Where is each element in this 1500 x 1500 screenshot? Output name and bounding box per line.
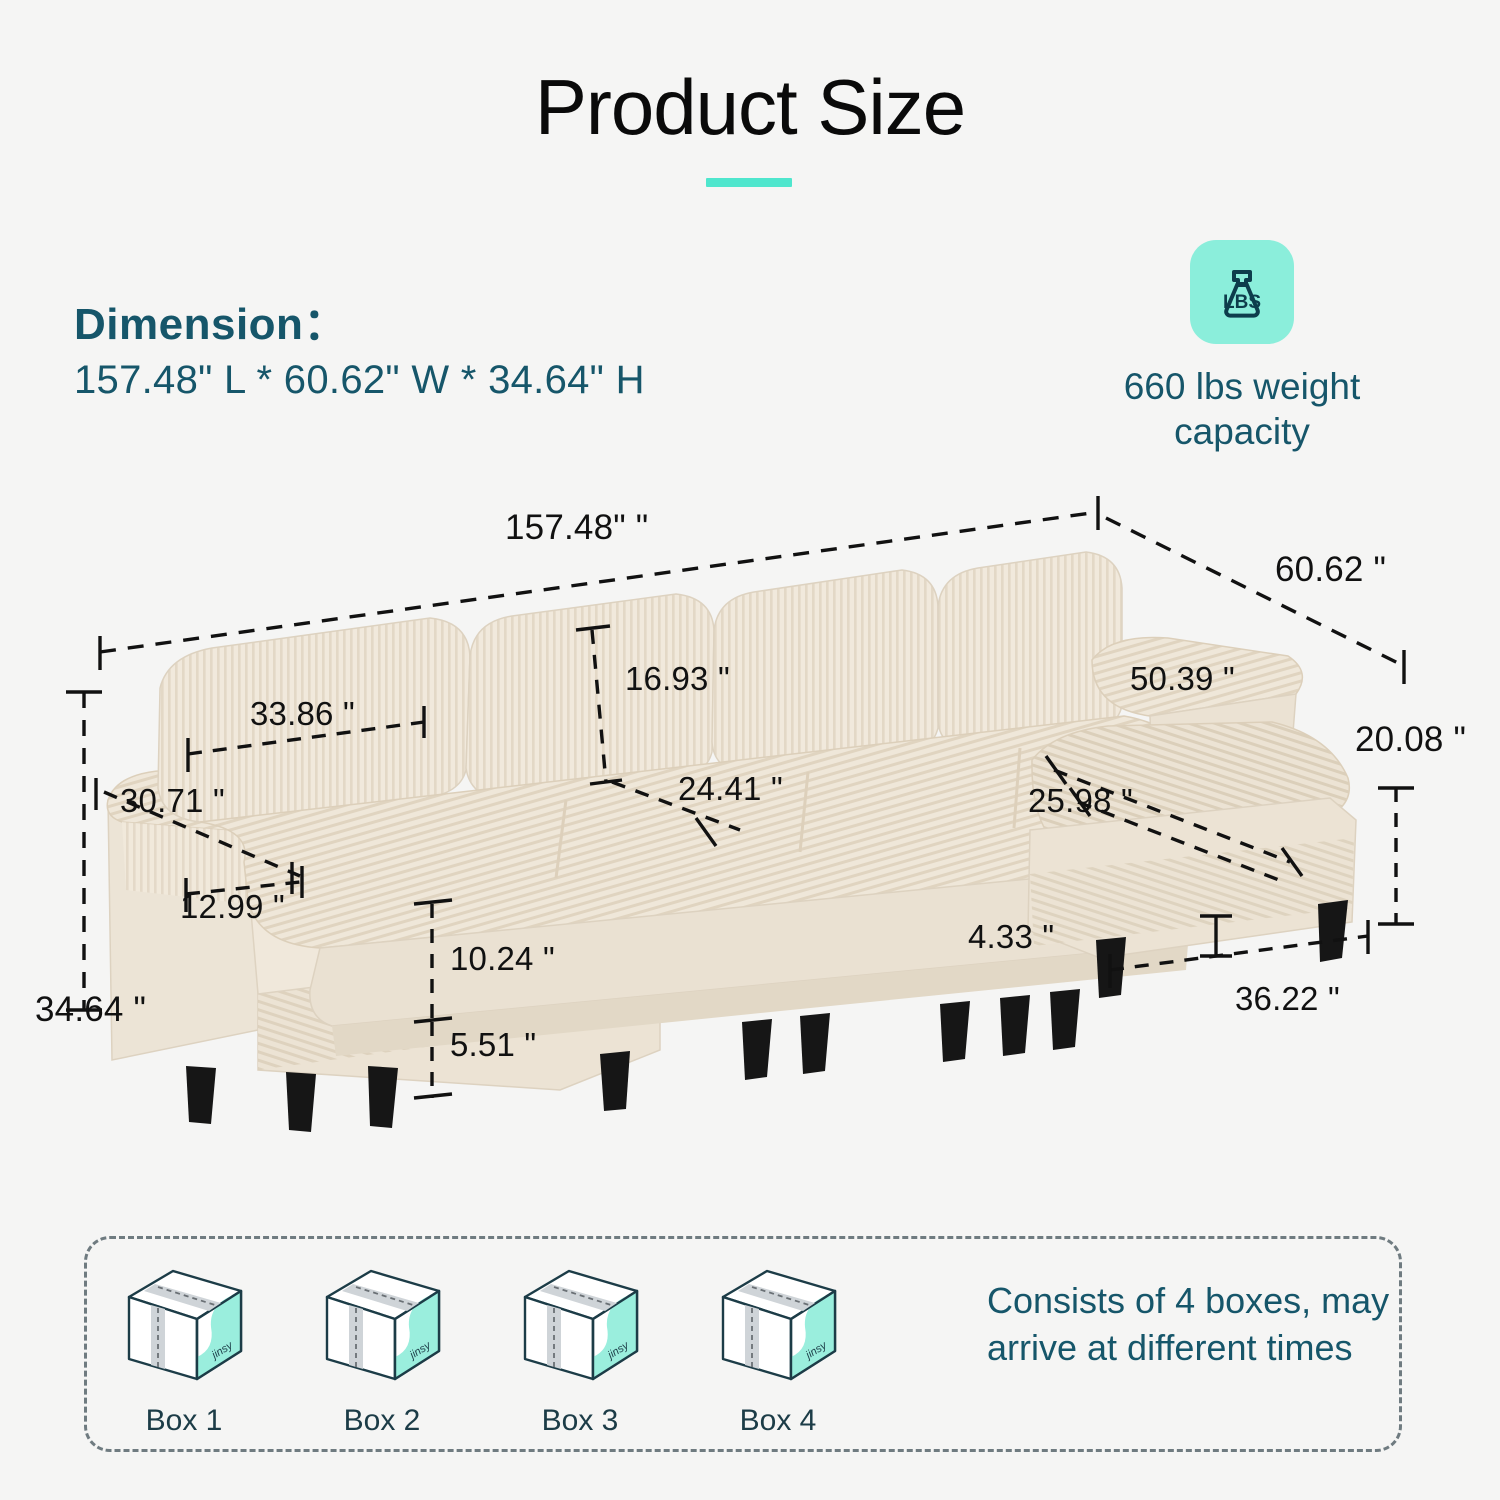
weight-capacity-line1: 660 lbs weight (1092, 364, 1392, 409)
packaging-note: Consists of 4 boxes, may arrive at diffe… (987, 1277, 1407, 1371)
label-backrest-height: 16.93 " (625, 660, 730, 698)
box-label: Box 2 (309, 1404, 455, 1438)
product-size-infographic: Product Size Dimension： 157.48" L * 60.6… (0, 0, 1500, 1500)
sofa-diagram: 157.48" " 60.62 " 34.64 " 33.86 " 16.93 … (0, 470, 1500, 1190)
tick-ob-bottom (414, 1094, 452, 1098)
box-label: Box 1 (111, 1404, 257, 1438)
label-overall-length: 157.48" " (505, 508, 648, 548)
shipping-box-icon: jinsy (111, 1253, 257, 1393)
label-ottoman-base: 5.51 " (450, 1026, 536, 1064)
label-seat-depth: 24.41 " (678, 770, 783, 808)
label-ottoman-seat: 10.24 " (450, 940, 555, 978)
box-label: Box 4 (705, 1404, 851, 1438)
list-item: jinsy Box 3 (507, 1253, 653, 1438)
box-label: Box 3 (507, 1404, 653, 1438)
label-arm-width: 12.99 " (180, 888, 285, 926)
label-chaise-length: 50.39 " (1130, 660, 1235, 698)
label-right-seat-height: 20.08 " (1355, 720, 1466, 760)
box-list: jinsy Box 1 jinsy Box 2 (111, 1253, 851, 1438)
list-item: jinsy Box 2 (309, 1253, 455, 1438)
label-chaise-cushion: 25.98 " (1028, 782, 1133, 820)
list-item: jinsy Box 4 (705, 1253, 851, 1438)
lbs-icon-text: LBS (1223, 292, 1261, 313)
label-overall-depth: 60.62 " (1275, 550, 1386, 590)
weight-capacity-block: LBS 660 lbs weight capacity (1092, 240, 1392, 454)
title-accent-rule (706, 178, 792, 187)
shipping-box-icon: jinsy (705, 1253, 851, 1393)
label-backrest-width: 33.86 " (250, 695, 355, 733)
weight-capacity-line2: capacity (1092, 409, 1392, 454)
sofa-illustration (107, 552, 1356, 1132)
lbs-weight-icon: LBS (1205, 255, 1279, 329)
page-title: Product Size (0, 62, 1500, 153)
dimension-heading: Dimension： (74, 288, 348, 352)
list-item: jinsy Box 1 (111, 1253, 257, 1438)
dimension-value: 157.48" L * 60.62" W * 34.64" H (74, 358, 645, 403)
shipping-box-icon: jinsy (507, 1253, 653, 1393)
weight-badge: LBS (1190, 240, 1294, 344)
shipping-box-icon: jinsy (309, 1253, 455, 1393)
packaging-panel: jinsy Box 1 jinsy Box 2 (84, 1236, 1402, 1452)
label-arm-depth: 30.71 " (120, 782, 225, 820)
label-overall-height: 34.64 " (35, 990, 146, 1030)
label-leg-height: 4.33 " (968, 918, 1054, 956)
label-chaise-width: 36.22 " (1235, 980, 1340, 1018)
